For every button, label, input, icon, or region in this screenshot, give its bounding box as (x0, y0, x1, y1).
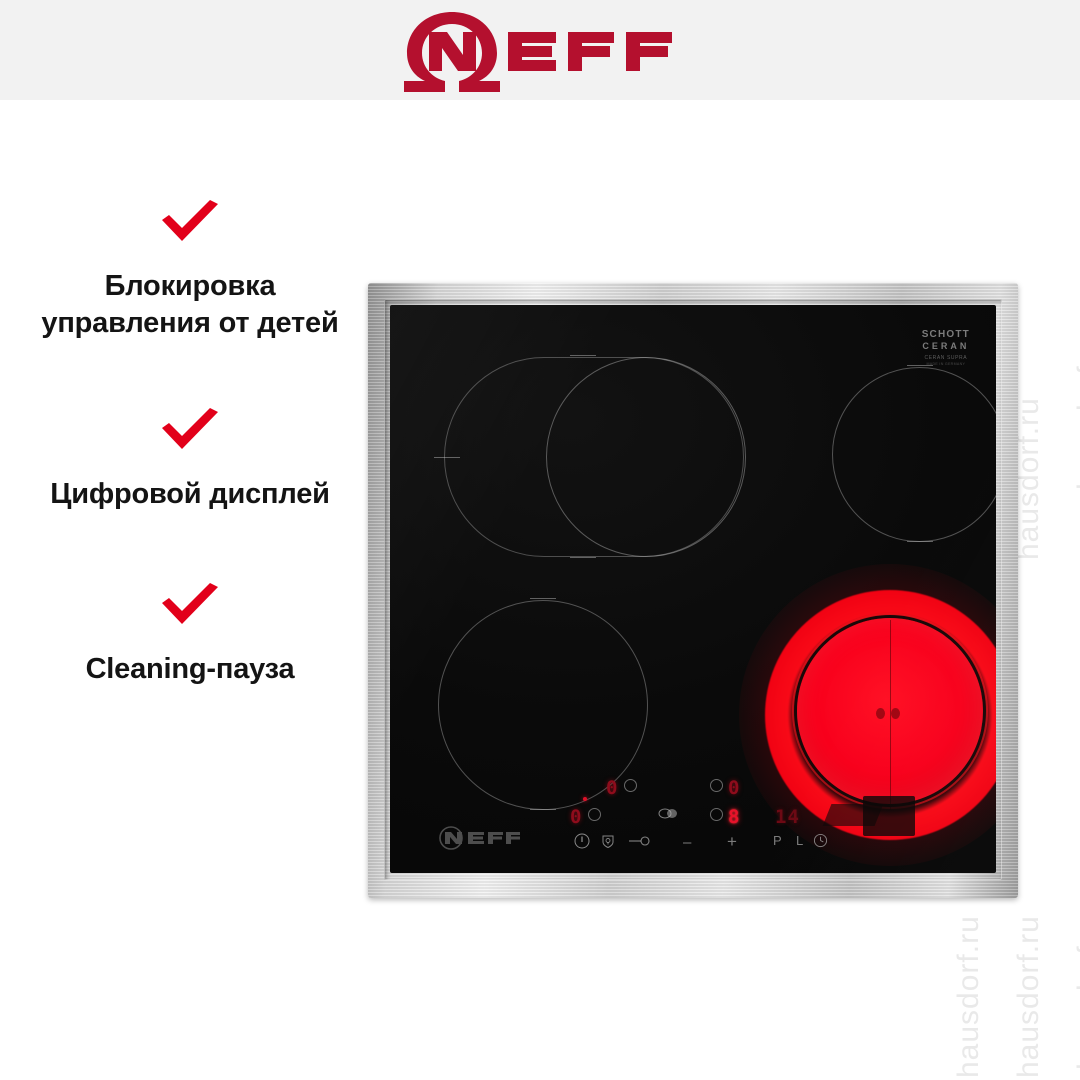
watermark-text: hausdorf.ru (1072, 907, 1080, 1070)
control-panel: 0 0 0 8 14 (570, 777, 830, 863)
cooking-zone-rear-right[interactable] (832, 367, 996, 542)
feature-list: Блокировка управления от детей Цифровой … (0, 200, 380, 732)
minus-button[interactable]: – (683, 835, 691, 850)
schott-ceran-logo: SCHOTT CERAN CERAN SUPRA MADE IN GERMANY (922, 329, 970, 366)
zone-tick (907, 541, 933, 542)
product-hob: SCHOTT CERAN CERAN SUPRA MADE IN GERMANY (368, 283, 1018, 898)
element-terminal-block (863, 796, 915, 836)
feature-item-cleaning-pause: Cleaning-пауза (0, 583, 380, 688)
element-center-dot (891, 708, 900, 719)
page-root: hausdorf.ru hausdorf.ru hausdorf.ru haus… (0, 0, 1080, 1080)
display-rear-right: 0 (728, 777, 740, 799)
indicator-front-right[interactable] (710, 808, 723, 821)
ceran-line-1: SCHOTT (922, 329, 970, 341)
feature-label: Цифровой дисплей (0, 476, 380, 513)
display-front-left: 0 (570, 806, 582, 828)
bridge-zone-icon[interactable] (658, 808, 680, 822)
zone-tick (530, 598, 556, 599)
watermark-text: hausdorf.ru (1012, 915, 1046, 1078)
feature-label: Cleaning-пауза (0, 651, 380, 688)
indicator-rear-left[interactable] (624, 779, 637, 792)
feature-item-child-lock: Блокировка управления от детей (0, 200, 380, 342)
zone-tick (530, 809, 556, 810)
watermark-text: hausdorf.ru (1072, 327, 1080, 490)
zone-tick (434, 457, 460, 458)
display-front-right: 8 (728, 806, 740, 828)
display-rear-left: 0 (606, 777, 618, 799)
power-icon[interactable] (574, 833, 590, 852)
feature-item-digital-display: Цифровой дисплей (0, 408, 380, 513)
neff-omega-logo (396, 8, 686, 92)
header-band (0, 0, 1080, 100)
element-center-dot (876, 708, 885, 719)
child-lock-icon[interactable] (600, 833, 616, 852)
ceran-line-3: CERAN SUPRA (922, 356, 970, 362)
feature-label: Блокировка управления от детей (0, 268, 380, 342)
display-timer: 14 (775, 806, 800, 828)
hob-neff-badge (438, 825, 520, 851)
plus-button[interactable]: + (727, 833, 737, 850)
zone-tick (570, 355, 596, 356)
indicator-front-left[interactable] (588, 808, 601, 821)
ceramic-glass-surface: SCHOTT CERAN CERAN SUPRA MADE IN GERMANY (390, 305, 996, 873)
indicator-rear-right[interactable] (710, 779, 723, 792)
check-icon (158, 583, 222, 629)
watermark-text: hausdorf.ru (952, 915, 986, 1078)
clock-icon[interactable] (813, 833, 828, 851)
cooking-zone-rear-left-inner[interactable] (546, 357, 746, 557)
ceran-line-4: MADE IN GERMANY (922, 362, 970, 366)
lock-indicator[interactable]: L (796, 834, 803, 847)
zone-tick (570, 557, 596, 558)
wipe-pause-icon[interactable] (628, 835, 650, 850)
power-boost-button[interactable]: P (773, 834, 782, 847)
ceran-line-2: CERAN (922, 341, 970, 351)
check-icon (158, 408, 222, 454)
check-icon (158, 200, 222, 246)
status-dot (583, 797, 587, 801)
